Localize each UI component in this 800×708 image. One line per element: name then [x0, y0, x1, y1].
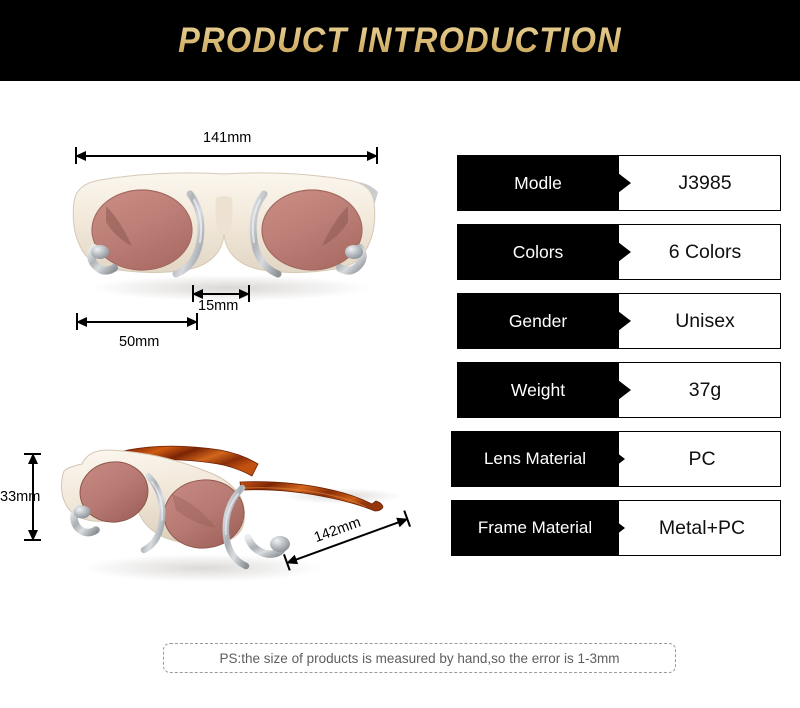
dimension-lens-span-arrow [76, 316, 198, 327]
table-row: Frame Material Metal+PC [451, 500, 781, 556]
spec-key: Modle [457, 155, 619, 211]
spec-value: Metal+PC [607, 500, 781, 556]
arrow-right-icon [612, 518, 625, 538]
table-row: Lens Material PC [451, 431, 781, 487]
spec-value: Unisex [613, 293, 781, 349]
header-banner: PRODUCT INTRODUCTION [0, 0, 800, 81]
sunglasses-front-view [60, 160, 400, 305]
sunglasses-front-svg [60, 160, 400, 305]
arrow-right-icon [618, 311, 631, 331]
dimension-front-width-arrow [75, 150, 378, 161]
spec-value: J3985 [613, 155, 781, 211]
table-row: Gender Unisex [451, 293, 781, 349]
table-row: Modle J3985 [451, 155, 781, 211]
page-title: PRODUCT INTRODUCTION [28, 0, 772, 81]
spec-table: Modle J3985 Colors 6 Colors Gender Unise… [451, 155, 781, 569]
dimension-lens-height-label: 33mm [0, 489, 40, 505]
table-row: Colors 6 Colors [451, 224, 781, 280]
spec-key: Weight [457, 362, 619, 418]
arrow-right-icon [612, 449, 625, 469]
dimension-bridge-label: 15mm [198, 298, 238, 314]
spec-value: 6 Colors [613, 224, 781, 280]
spec-value: PC [607, 431, 781, 487]
measurement-note-text: PS:the size of products is measured by h… [220, 651, 620, 666]
spec-key: Frame Material [451, 500, 619, 556]
arrow-right-icon [618, 380, 631, 400]
table-row: Weight 37g [451, 362, 781, 418]
dimension-temple-length-group: 142mm [282, 506, 412, 566]
spec-key: Lens Material [451, 431, 619, 487]
arrow-right-icon [618, 242, 631, 262]
spec-value: 37g [613, 362, 781, 418]
measurement-note: PS:the size of products is measured by h… [163, 643, 676, 673]
spec-key: Gender [457, 293, 619, 349]
dimension-lens-span-label: 50mm [119, 334, 159, 350]
product-introduction-page: PRODUCT INTRODUCTION [0, 0, 800, 708]
arrow-right-icon [618, 173, 631, 193]
dimension-front-width-label: 141mm [203, 130, 251, 146]
spec-key: Colors [457, 224, 619, 280]
